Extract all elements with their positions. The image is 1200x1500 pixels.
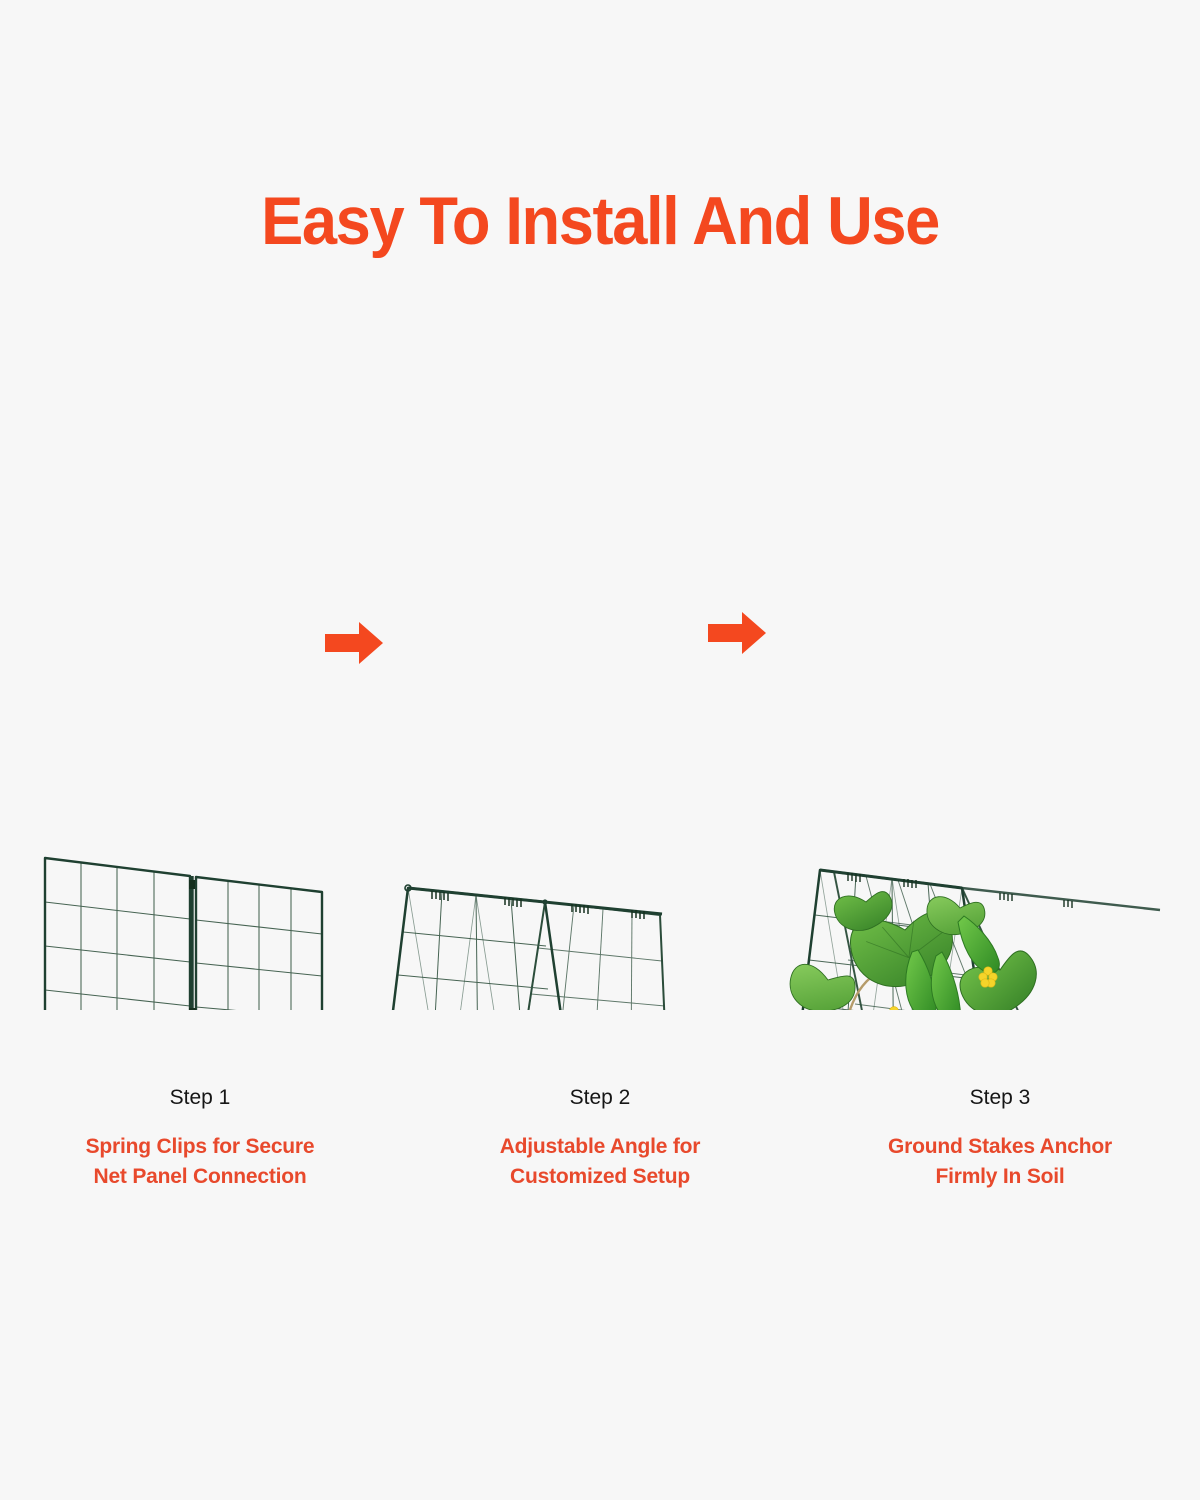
arrow-step1-to-step2-icon	[325, 620, 383, 666]
step-1-description-line2: Net Panel Connection	[0, 1162, 400, 1192]
infographic-page: Easy To Install And Use	[0, 0, 1200, 1500]
step1-illustration-flat-panels	[45, 858, 322, 1010]
step-1-description-line1: Spring Clips for Secure	[86, 1135, 315, 1158]
caption-step-1: Step 1 Spring Clips for Secure Net Panel…	[0, 1085, 400, 1192]
arrow-step2-to-step3-icon	[708, 610, 766, 656]
step-3-description-line1: Ground Stakes Anchor	[888, 1135, 1112, 1158]
step-captions: Step 1 Spring Clips for Secure Net Panel…	[0, 1085, 1200, 1192]
step-1-label: Step 1	[0, 1085, 400, 1110]
step2-illustration-a-frame	[355, 885, 680, 1010]
step-3-label: Step 3	[800, 1085, 1200, 1110]
step-2-description-line1: Adjustable Angle for	[500, 1135, 701, 1158]
caption-step-3: Step 3 Ground Stakes Anchor Firmly In So…	[800, 1085, 1200, 1192]
step3-illustration-planted-a-frame	[755, 870, 1180, 1010]
page-title: Easy To Install And Use	[42, 186, 1158, 257]
step-2-label: Step 2	[400, 1085, 800, 1110]
step-1-description: Spring Clips for Secure Net Panel Connec…	[0, 1132, 400, 1192]
spring-clips-row	[405, 885, 662, 919]
step-2-description-line2: Customized Setup	[400, 1162, 800, 1192]
step-3-description: Ground Stakes Anchor Firmly In Soil	[800, 1132, 1200, 1192]
step-3-description-line2: Firmly In Soil	[800, 1162, 1200, 1192]
illustration-stage	[0, 410, 1200, 1010]
caption-step-2: Step 2 Adjustable Angle for Customized S…	[400, 1085, 800, 1192]
step-2-description: Adjustable Angle for Customized Setup	[400, 1132, 800, 1192]
